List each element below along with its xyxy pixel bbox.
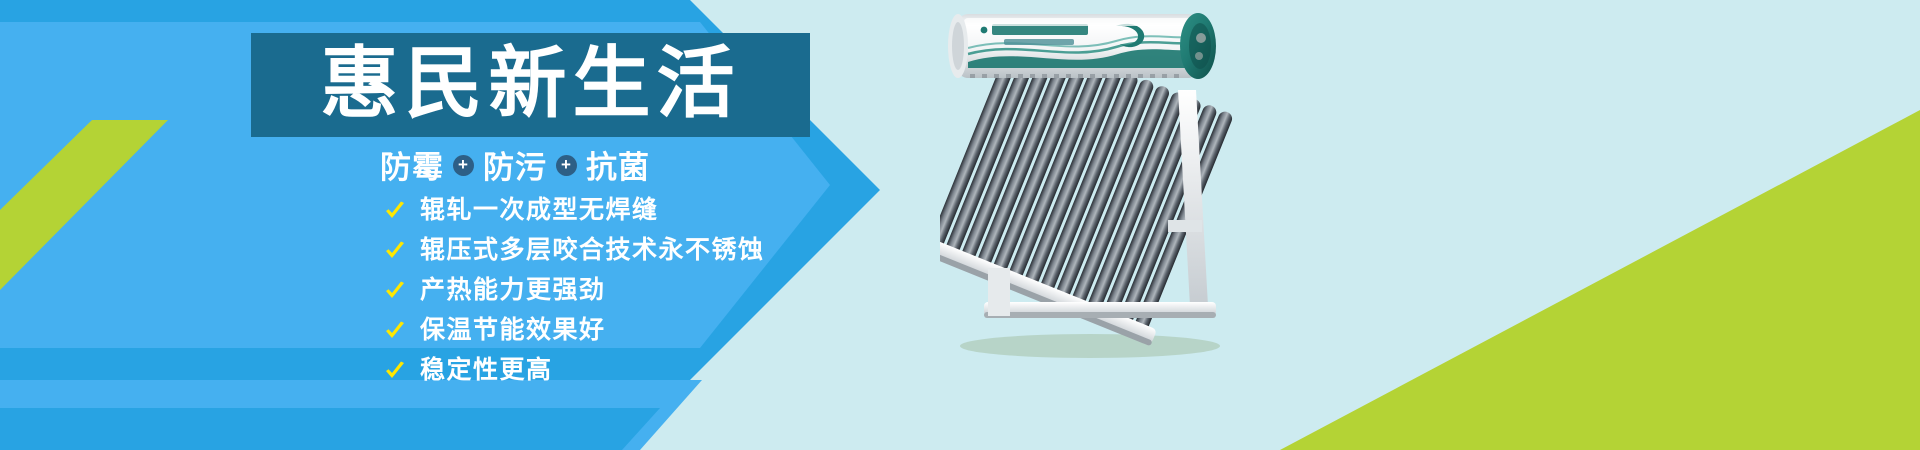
- list-item: 保温节能效果好: [384, 314, 765, 347]
- list-item-label: 稳定性更高: [420, 358, 553, 383]
- list-item-label: 保温节能效果好: [420, 318, 606, 343]
- plus-symbol: +: [458, 156, 469, 173]
- list-item: 产热能力更强劲: [384, 274, 765, 307]
- feature-list: 辊轧一次成型无焊缝 辊压式多层咬合技术永不锈蚀 产热能力更强劲 保温节能效果好: [384, 194, 765, 387]
- list-item: 辊压式多层咬合技术永不锈蚀: [384, 234, 765, 267]
- subtitle-segment-2: 防污: [483, 142, 547, 187]
- promo-banner: 惠民新生活 防霉 + 防污 + 抗菌 辊轧一次成型无焊缝 辊压式多层咬合技术永不…: [0, 0, 1920, 450]
- subtitle-segment-1: 防霉: [380, 142, 444, 187]
- list-item-label: 产热能力更强劲: [420, 278, 606, 303]
- list-item-label: 辊轧一次成型无焊缝: [420, 198, 659, 223]
- plus-symbol: +: [561, 156, 572, 173]
- list-item-label: 辊压式多层咬合技术永不锈蚀: [420, 238, 765, 263]
- headline-plaque: 惠民新生活: [251, 33, 810, 137]
- solar-water-heater-image: [940, 6, 1270, 361]
- check-icon: [384, 320, 406, 342]
- check-icon: [384, 240, 406, 262]
- list-item: 稳定性更高: [384, 354, 765, 387]
- subtitle-segment-3: 抗菌: [586, 142, 650, 187]
- subtitle: 防霉 + 防污 + 抗菌: [380, 144, 810, 184]
- check-icon: [384, 280, 406, 302]
- page-title: 惠民新生活: [320, 44, 740, 122]
- check-icon: [384, 200, 406, 222]
- list-item: 辊轧一次成型无焊缝: [384, 194, 765, 227]
- plus-badge-icon: +: [556, 155, 577, 176]
- check-icon: [384, 360, 406, 382]
- plus-badge-icon: +: [453, 155, 474, 176]
